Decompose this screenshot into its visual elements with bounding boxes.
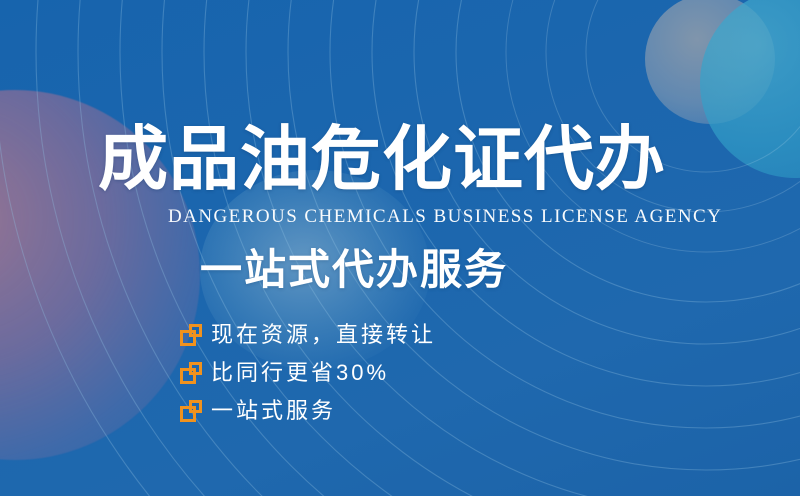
overlapping-squares-icon [180,362,202,384]
list-item-label: 现在资源，直接转让 [211,322,436,348]
feature-list: 现在资源，直接转让 比同行更省30% 一站式服务 [180,316,436,430]
list-item: 一站式服务 [180,392,436,430]
subtitle-chinese: 一站式代办服务 [200,245,508,295]
banner-content: 成品油危化证代办 DANGEROUS CHEMICALS BUSINESS LI… [0,0,800,496]
page-title: 成品油危化证代办 [98,118,666,200]
list-item: 现在资源，直接转让 [180,316,436,354]
subtitle-english: DANGEROUS CHEMICALS BUSINESS LICENSE AGE… [168,205,722,229]
list-item-label: 一站式服务 [211,398,336,424]
list-item: 比同行更省30% [180,354,436,392]
overlapping-squares-icon [180,400,202,422]
overlapping-squares-icon [180,324,202,346]
list-item-label: 比同行更省30% [211,360,389,386]
promo-banner: 成品油危化证代办 DANGEROUS CHEMICALS BUSINESS LI… [0,0,800,496]
